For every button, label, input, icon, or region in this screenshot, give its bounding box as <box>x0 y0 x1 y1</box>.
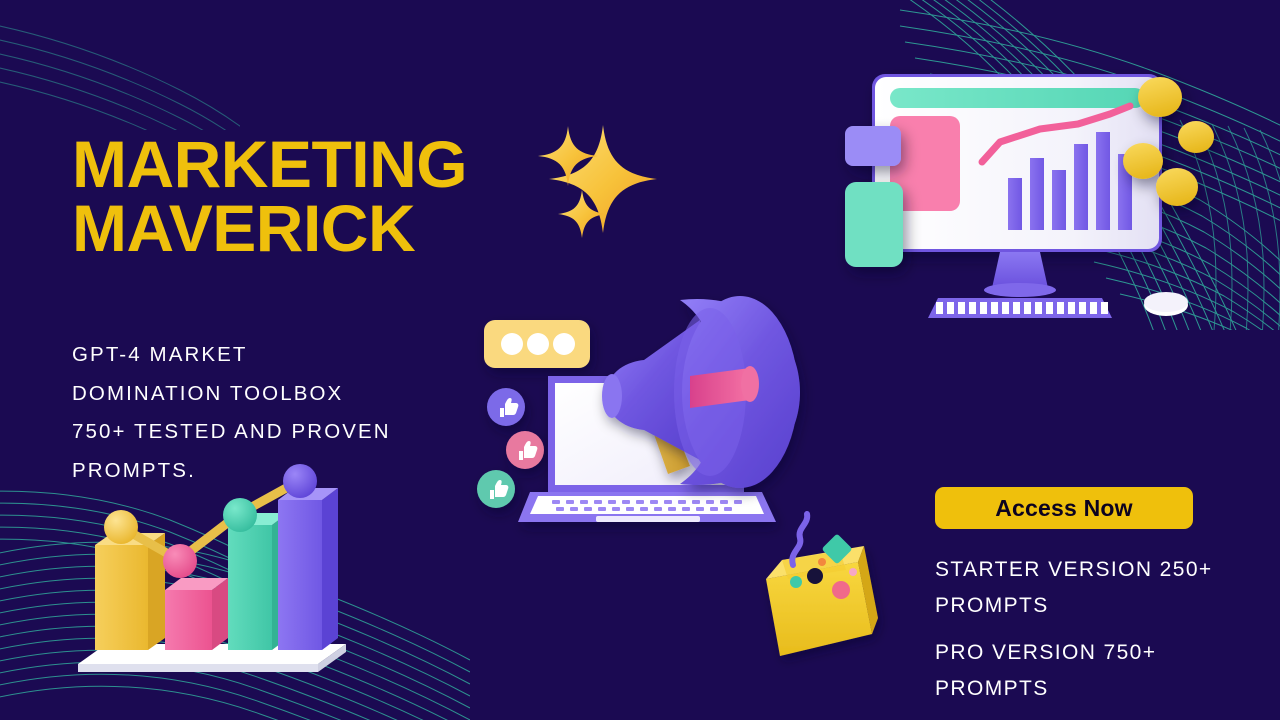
page-title: MARKETING MAVERICK <box>72 132 592 260</box>
offer-pro-version: PRO VERSION 750+ PROMPTS <box>935 635 1255 706</box>
offer-starter-version: STARTER VERSION 250+ PROMPTS <box>935 552 1255 623</box>
access-now-button[interactable]: Access Now <box>935 487 1193 529</box>
access-now-label: Access Now <box>995 495 1133 522</box>
subtitle-text: GPT-4 MARKET DOMINATION TOOLBOX 750+ TES… <box>72 336 472 490</box>
poster-canvas: MARKETING MAVERICK GPT-4 MARKET DOMINATI… <box>0 0 1280 720</box>
